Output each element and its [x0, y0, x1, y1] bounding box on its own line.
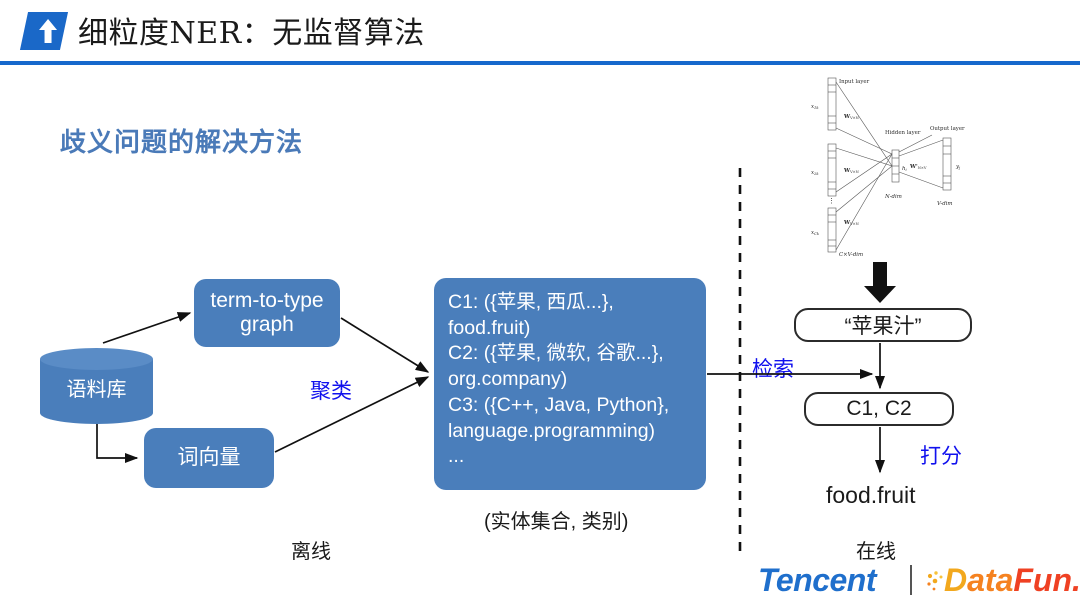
svg-text:W'N×V: W'N×V: [909, 164, 927, 170]
svg-text:C×V-dim: C×V-dim: [839, 252, 863, 258]
datafun-logo: DataFun.: [944, 562, 1080, 599]
arrow-embedding-to-query: [864, 262, 896, 303]
svg-text:x1k: x1k: [811, 104, 819, 110]
candidates-box: C1, C2: [804, 392, 954, 426]
offline-stage-label: 离线: [291, 535, 331, 564]
arrow-up-icon: [20, 12, 68, 50]
svg-text:V-dim: V-dim: [937, 201, 953, 207]
hidden-layer-caption: Hidden layer: [885, 130, 921, 136]
corpus-label: 语料库: [40, 373, 153, 402]
svg-text:hi: hi: [902, 166, 907, 172]
word2vec-cbow-diagram: Input layer Hidden layer Output layer x1…: [806, 72, 974, 258]
cluster-edge-label: 聚类: [310, 375, 352, 405]
query-box: “苹果汁”: [794, 308, 972, 342]
svg-text:WV×N: WV×N: [843, 114, 859, 120]
datafun-fun: Fun: [1013, 562, 1072, 598]
tencent-logo: Tencent: [758, 562, 876, 599]
datafun-dot: .: [1072, 562, 1080, 598]
footer-logos: Tencent DataFun.: [758, 562, 1074, 602]
term-to-type-graph-label: term-to-type graph: [194, 289, 340, 337]
cluster-caption: (实体集合, 类别): [484, 505, 628, 534]
word-vector-label: 词向量: [178, 446, 241, 470]
section-heading: 歧义问题的解决方法: [60, 122, 303, 159]
arrow-corpus-to-graph: [103, 313, 190, 343]
datafun-d: D: [944, 562, 967, 598]
candidates-label: C1, C2: [846, 397, 911, 421]
svg-text:WV×N: WV×N: [843, 220, 859, 226]
input-layer-caption: Input layer: [839, 79, 870, 85]
term-to-type-graph-box: term-to-type graph: [194, 279, 340, 347]
cluster-line: org.company): [448, 367, 706, 393]
cluster-line: C3: ({C++, Java, Python},: [448, 393, 706, 419]
footer-separator: [910, 565, 912, 595]
cylinder-top: [40, 348, 153, 370]
datafun-ata: ata: [967, 562, 1013, 598]
svg-text:x2k: x2k: [811, 170, 819, 176]
result-label: food.fruit: [826, 482, 916, 509]
cluster-line: language.programming): [448, 419, 706, 445]
score-edge-label: 打分: [920, 440, 962, 470]
header-divider: [0, 61, 1080, 65]
word-vector-box: 词向量: [144, 428, 274, 488]
svg-text:⋮: ⋮: [828, 197, 835, 205]
cluster-line: ...: [448, 444, 706, 470]
corpus-cylinder: 语料库: [40, 348, 153, 424]
page-title: 细粒度NER：无监督算法: [78, 8, 425, 52]
online-stage-label: 在线: [856, 535, 896, 564]
cluster-line: C1: ({苹果, 西瓜...},: [448, 290, 706, 316]
svg-text:N-dim: N-dim: [884, 194, 902, 200]
output-layer-caption: Output layer: [930, 126, 965, 132]
retrieve-edge-label: 检索: [752, 353, 794, 383]
arrow-corpus-to-wordvec: [97, 424, 137, 458]
slide-header: 细粒度NER：无监督算法: [0, 0, 1080, 63]
svg-text:xCk: xCk: [811, 230, 819, 236]
svg-text:WV×N: WV×N: [843, 168, 859, 174]
tencent-arrow-logo-icon: [20, 12, 68, 50]
cluster-line: food.fruit): [448, 316, 706, 342]
cluster-line: C2: ({苹果, 微软, 谷歌...},: [448, 341, 706, 367]
cluster-result-box: C1: ({苹果, 西瓜...}, food.fruit) C2: ({苹果, …: [434, 278, 706, 490]
svg-text:yj: yj: [955, 164, 961, 170]
arrow-graph-to-cluster: [341, 318, 428, 372]
query-label: “苹果汁”: [845, 310, 922, 340]
